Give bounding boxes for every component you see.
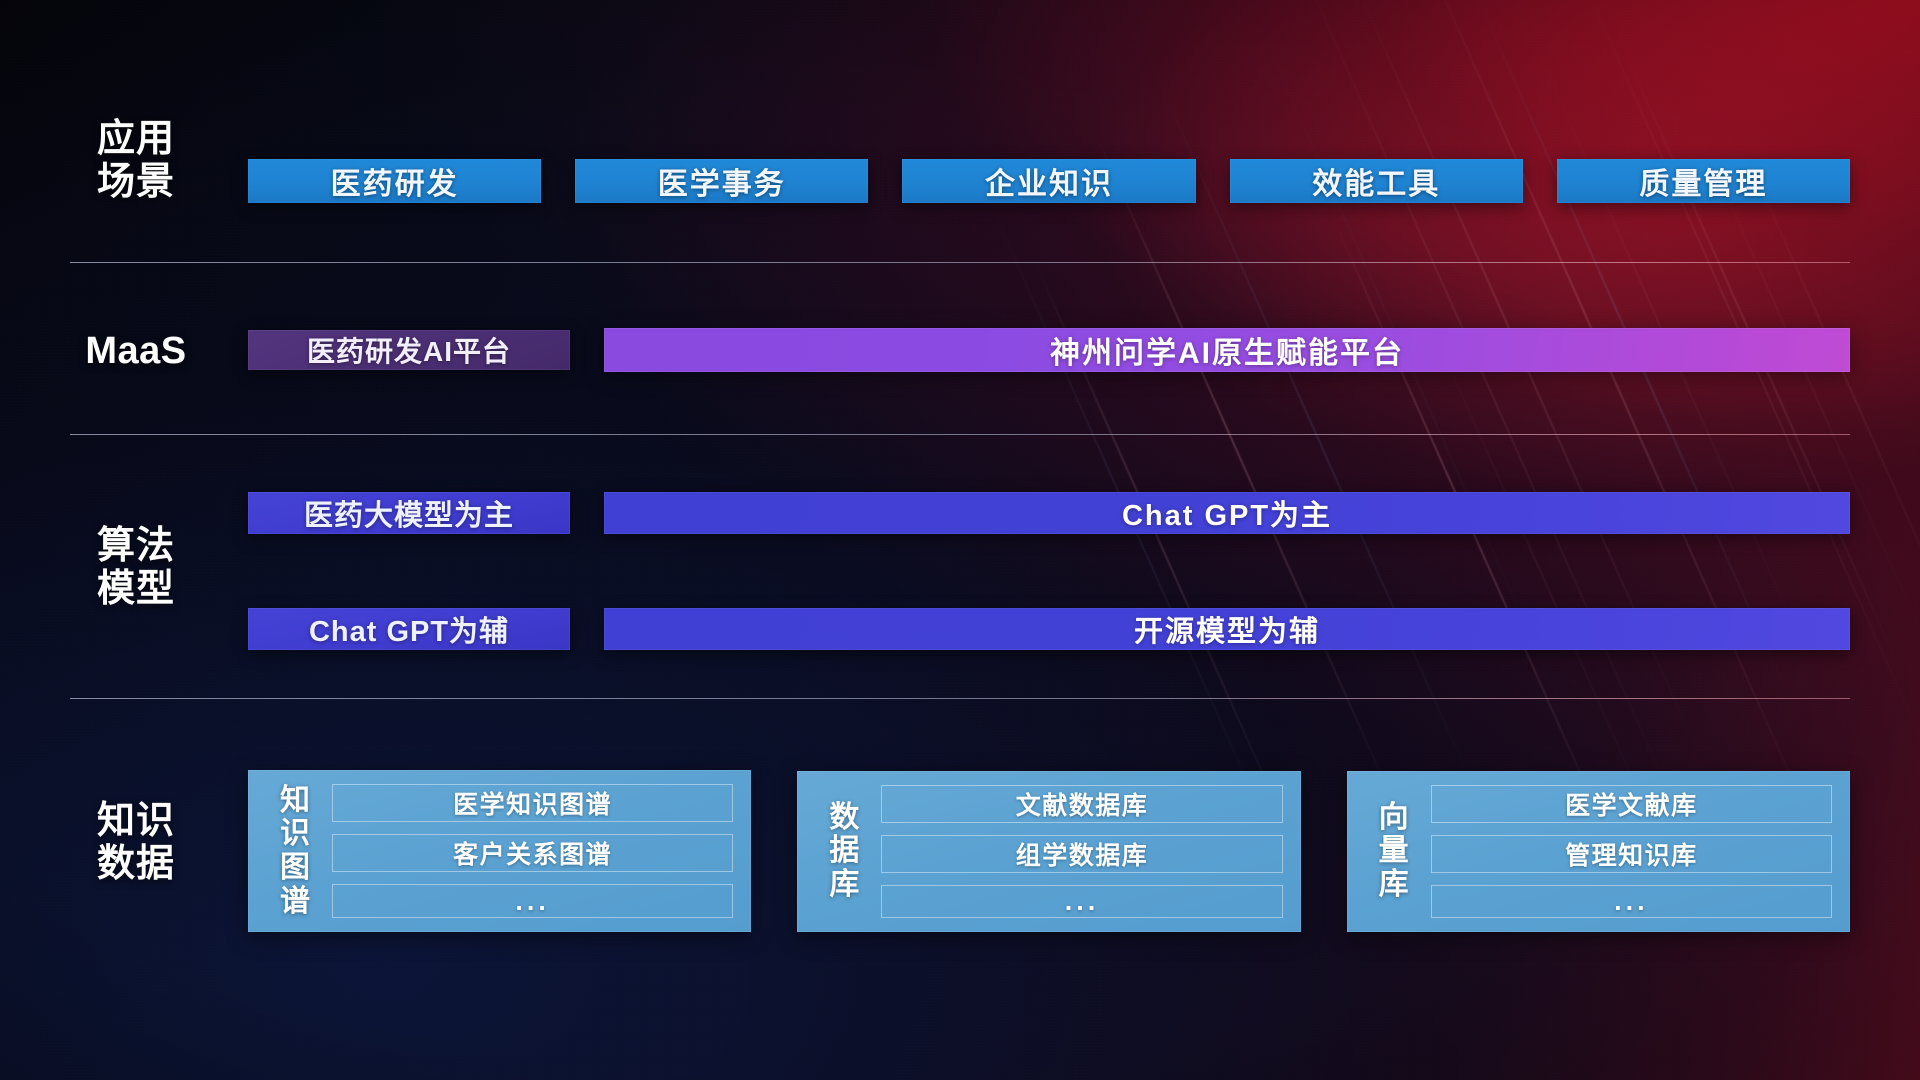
knowledge-item-literature-database[interactable]: 文献数据库	[881, 785, 1282, 823]
knowledge-panel-vector-store: 向 量 库 医学文献库 管理知识库 ...	[1347, 771, 1850, 932]
knowledge-panel-title-database: 数 据 库	[807, 785, 881, 918]
architecture-diagram: 应用 场景 医药研发 医学事务 企业知识 效能工具 质量管理 MaaS 医药研发…	[0, 0, 1920, 1080]
row-divider-2	[70, 434, 1850, 435]
knowledge-item-management-knowledge-store[interactable]: 管理知识库	[1431, 835, 1832, 873]
knowledge-items-database: 文献数据库 组学数据库 ...	[881, 785, 1282, 918]
app-card-medical-affairs[interactable]: 医学事务	[575, 159, 868, 203]
row-label-line-2: 模型	[72, 568, 200, 611]
app-card-enterprise-knowledge[interactable]: 企业知识	[902, 159, 1195, 203]
app-card-medicine-rd[interactable]: 医药研发	[248, 159, 541, 203]
title-char: 数	[829, 801, 859, 835]
knowledge-item-omics-database[interactable]: 组学数据库	[881, 835, 1282, 873]
row-label-line-2: 场景	[72, 161, 200, 204]
app-card-quality-management[interactable]: 质量管理	[1557, 159, 1850, 203]
title-char: 识	[280, 817, 310, 851]
knowledge-item-medical-literature-store[interactable]: 医学文献库	[1431, 785, 1832, 823]
row-label-line-1: 应用	[72, 118, 200, 161]
tier-knowledge-data: 知 识 图 谱 医学知识图谱 客户关系图谱 ... 数 据 库 文献数据库 组学…	[248, 730, 1850, 972]
row-label-maas: MaaS	[72, 330, 200, 373]
row-label-knowledge-data: 知识 数据	[72, 800, 200, 886]
title-char: 图	[280, 851, 310, 885]
maas-card-pharma-ai-platform[interactable]: 医药研发AI平台	[248, 330, 570, 370]
knowledge-panel-knowledge-graph: 知 识 图 谱 医学知识图谱 客户关系图谱 ...	[248, 770, 751, 932]
tier-algorithm-row-secondary: Chat GPT为辅 开源模型为辅	[248, 578, 1850, 680]
knowledge-item-customer-relation-graph[interactable]: 客户关系图谱	[332, 834, 733, 872]
row-label-application-scenarios: 应用 场景	[72, 118, 200, 204]
algo-card-chatgpt-primary[interactable]: Chat GPT为主	[604, 492, 1850, 534]
title-char: 知	[280, 784, 310, 818]
knowledge-panel-database: 数 据 库 文献数据库 组学数据库 ...	[797, 771, 1300, 932]
title-char: 量	[1379, 834, 1409, 868]
tier-maas: 医药研发AI平台 神州问学AI原生赋能平台	[248, 288, 1850, 412]
tier-application-scenarios: 医药研发 医学事务 企业知识 效能工具 质量管理	[248, 128, 1850, 233]
title-char: 据	[829, 834, 859, 868]
row-label-maas-text: MaaS	[72, 330, 200, 373]
row-divider-1	[70, 262, 1850, 263]
tier-algorithm-row-primary: 医药大模型为主 Chat GPT为主	[248, 462, 1850, 564]
algo-card-opensource-secondary[interactable]: 开源模型为辅	[604, 608, 1850, 650]
knowledge-item-medical-knowledge-graph[interactable]: 医学知识图谱	[332, 784, 733, 822]
knowledge-panel-title-vector-store: 向 量 库	[1357, 785, 1431, 918]
title-char: 谱	[280, 885, 310, 919]
knowledge-panel-title-knowledge-graph: 知 识 图 谱	[258, 784, 332, 918]
title-char: 库	[829, 868, 859, 902]
app-card-efficiency-tools[interactable]: 效能工具	[1230, 159, 1523, 203]
row-label-line-2: 数据	[72, 843, 200, 886]
knowledge-items-vector-store: 医学文献库 管理知识库 ...	[1431, 785, 1832, 918]
row-label-algorithm-models: 算法 模型	[72, 525, 200, 611]
knowledge-item-more-vector-store[interactable]: ...	[1431, 885, 1832, 918]
knowledge-item-more-knowledge-graph[interactable]: ...	[332, 884, 733, 918]
maas-card-shenzhou-wenxue-platform[interactable]: 神州问学AI原生赋能平台	[604, 328, 1850, 372]
algo-card-chatgpt-secondary[interactable]: Chat GPT为辅	[248, 608, 570, 650]
row-label-line-1: 知识	[72, 800, 200, 843]
knowledge-items-knowledge-graph: 医学知识图谱 客户关系图谱 ...	[332, 784, 733, 918]
algo-card-pharma-llm-primary[interactable]: 医药大模型为主	[248, 492, 570, 534]
row-label-line-1: 算法	[72, 525, 200, 568]
row-divider-3	[70, 698, 1850, 699]
title-char: 向	[1379, 801, 1409, 835]
knowledge-item-more-database[interactable]: ...	[881, 885, 1282, 918]
title-char: 库	[1379, 868, 1409, 902]
